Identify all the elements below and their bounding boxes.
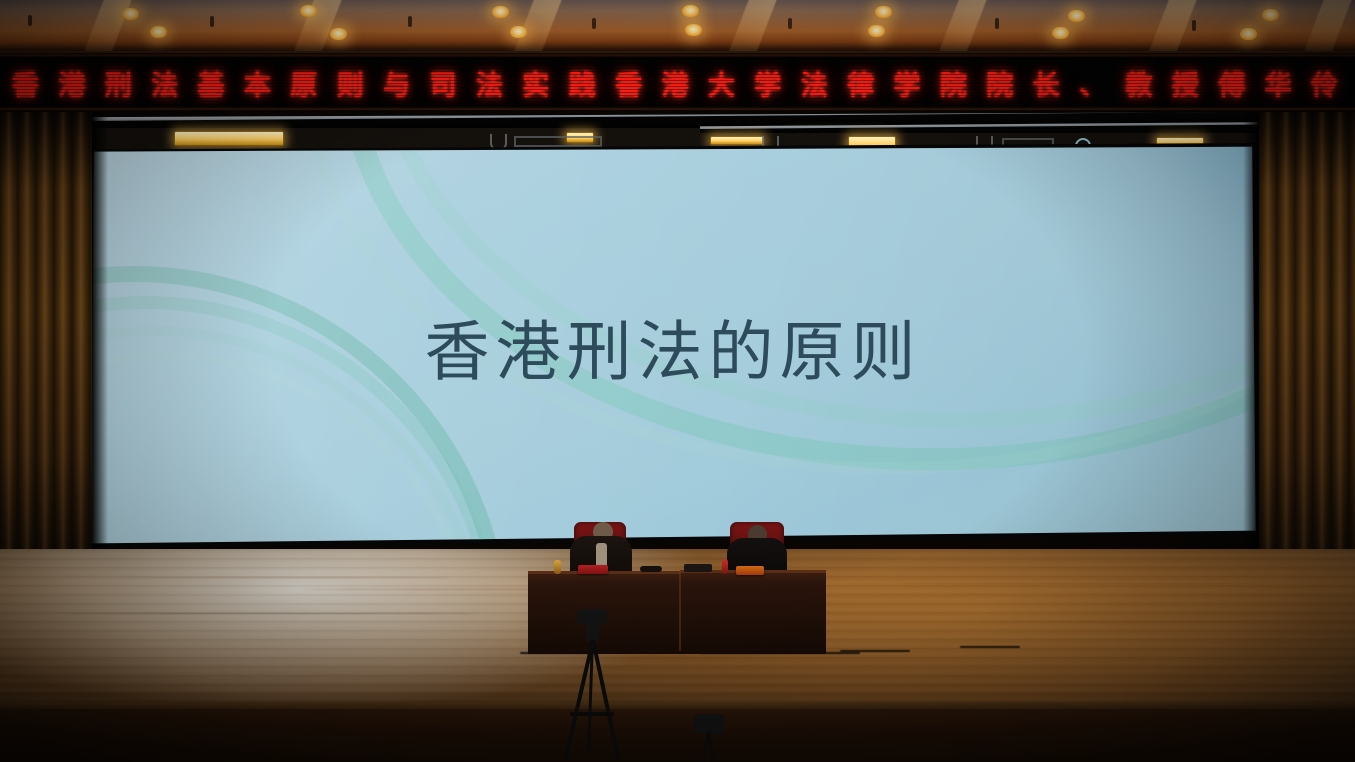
nameplate-right (736, 566, 764, 575)
ceiling-lamp (1068, 10, 1085, 22)
stage-curtain-right (1259, 112, 1355, 584)
table-right (680, 570, 826, 654)
ceiling (0, 0, 1355, 56)
ceiling-lamp (300, 5, 317, 17)
slide-title: 香港刑法的原则 (88, 299, 1258, 393)
ceiling-lamp (1262, 9, 1279, 21)
ceiling-lamp (1240, 28, 1257, 40)
ceiling-lamp (150, 26, 167, 38)
ceiling-lamp (122, 8, 139, 20)
ceiling-lamp (330, 28, 347, 40)
stage-apron (0, 709, 1355, 762)
ceiling-lamp (875, 6, 892, 18)
ceiling-lamp (685, 24, 702, 36)
strip-light-icon (174, 131, 284, 146)
laptop (684, 564, 712, 572)
ceiling-lamp (492, 6, 509, 18)
water-bottle (722, 559, 728, 574)
strip-light-icon (710, 136, 764, 145)
projection-screen: 香港刑法的原则 (88, 146, 1258, 545)
ceiling-lamp (868, 25, 885, 37)
fixture-box-icon (514, 136, 602, 147)
ceiling-lamp (1052, 27, 1069, 39)
nameplate-left (578, 565, 608, 574)
led-banner: 香 港 刑 法 基 本 原 则 与 司 法 实 践 香 港 大 学 法 律 学 … (0, 51, 1355, 114)
led-banner-text: 香 港 刑 法 基 本 原 则 与 司 法 实 践 香 港 大 学 法 律 学 … (0, 63, 1355, 102)
microphone (640, 566, 662, 572)
stage-curtain-left (0, 112, 92, 584)
ceiling-lamp (682, 5, 699, 17)
auditorium-photo: 香 港 刑 法 基 本 原 则 与 司 法 实 践 香 港 大 学 法 律 学 … (0, 0, 1355, 762)
ceiling-lamp (510, 26, 527, 38)
water-bottle (554, 560, 561, 574)
